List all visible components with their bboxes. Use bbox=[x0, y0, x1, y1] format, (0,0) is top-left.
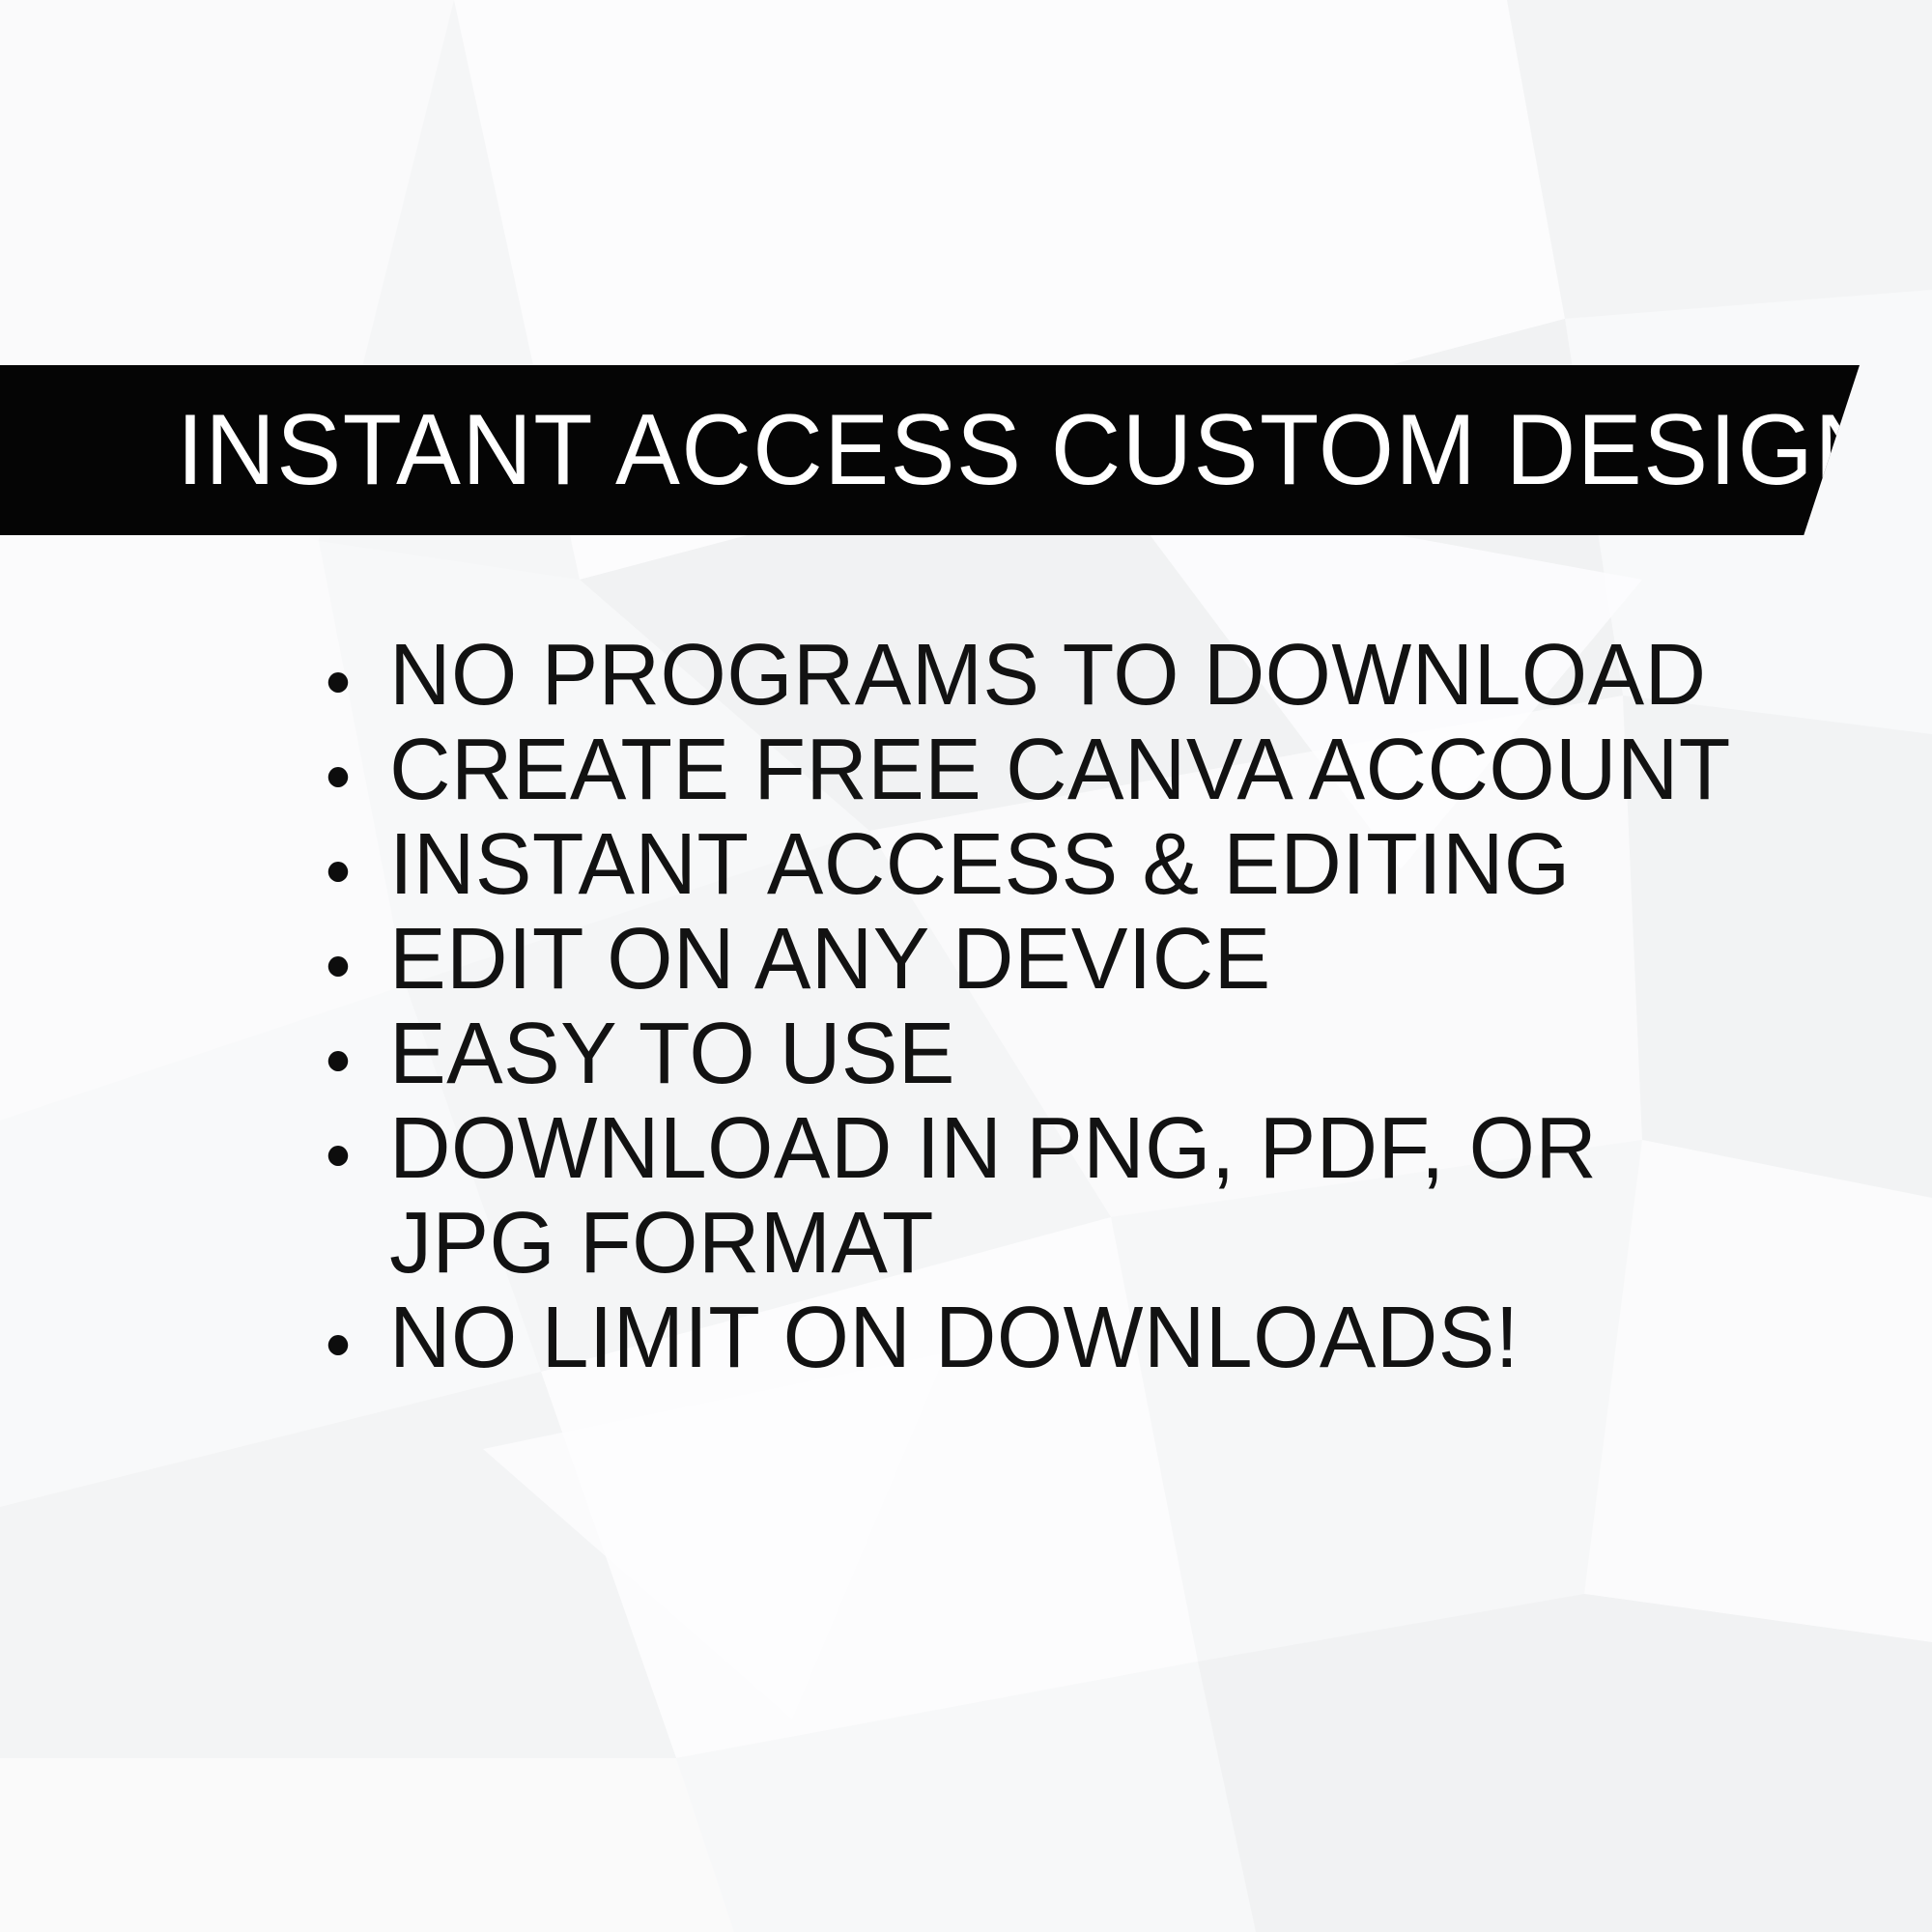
page-title: INSTANT ACCESS CUSTOM DESIGNS bbox=[177, 400, 1932, 500]
list-item: INSTANT ACCESS & EDITING bbox=[319, 817, 1732, 912]
list-item-label: DOWNLOAD IN PNG, PDF, OR JPG FORMAT bbox=[389, 1100, 1597, 1292]
bullet-dot-icon bbox=[328, 672, 348, 693]
list-item: DOWNLOAD IN PNG, PDF, OR JPG FORMAT bbox=[319, 1101, 1732, 1291]
bullet-dot-icon bbox=[328, 1335, 348, 1355]
bullet-dot-icon bbox=[328, 1146, 348, 1166]
bullet-dot-icon bbox=[328, 862, 348, 882]
list-item-label: INSTANT ACCESS & EDITING bbox=[389, 816, 1571, 913]
list-item-label: EASY TO USE bbox=[389, 1006, 955, 1102]
title-banner: INSTANT ACCESS CUSTOM DESIGNS bbox=[0, 365, 1860, 535]
list-item-label: NO PROGRAMS TO DOWNLOAD bbox=[389, 627, 1706, 724]
list-item: CREATE FREE CANVA ACCOUNT bbox=[319, 723, 1732, 817]
list-item: EDIT ON ANY DEVICE bbox=[319, 912, 1732, 1007]
list-item: EASY TO USE bbox=[319, 1007, 1732, 1101]
poster-canvas: INSTANT ACCESS CUSTOM DESIGNS NO PROGRAM… bbox=[0, 0, 1932, 1932]
bullet-dot-icon bbox=[328, 956, 348, 977]
feature-list: NO PROGRAMS TO DOWNLOAD CREATE FREE CANV… bbox=[319, 628, 1768, 1385]
list-item-label: EDIT ON ANY DEVICE bbox=[389, 911, 1271, 1008]
list-item: NO PROGRAMS TO DOWNLOAD bbox=[319, 628, 1732, 723]
bullet-dot-icon bbox=[328, 767, 348, 787]
bullet-dot-icon bbox=[328, 1051, 348, 1071]
list-item-label: NO LIMIT ON DOWNLOADS! bbox=[389, 1290, 1519, 1386]
list-item: NO LIMIT ON DOWNLOADS! bbox=[319, 1291, 1732, 1385]
list-item-label: CREATE FREE CANVA ACCOUNT bbox=[389, 722, 1731, 818]
